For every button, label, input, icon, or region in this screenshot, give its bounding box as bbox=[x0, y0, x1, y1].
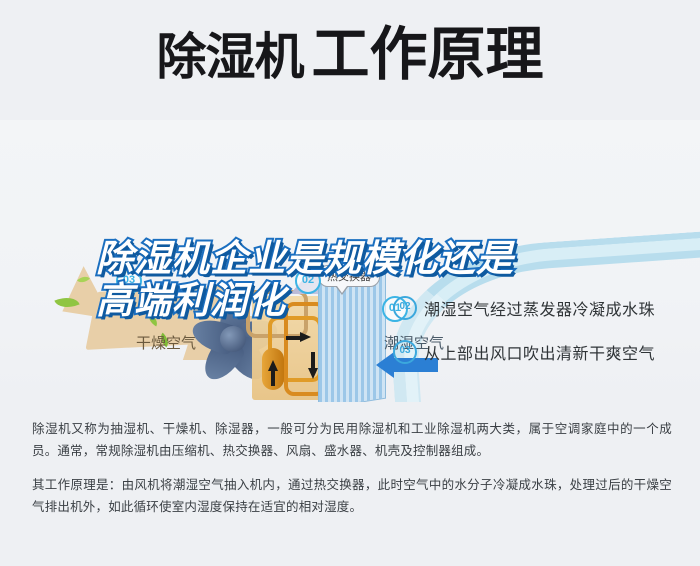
diagram-legend: 02 潮湿空气经过蒸发器冷凝成水珠 03 从上部出风口吹出清新干爽空气 bbox=[393, 296, 655, 384]
article-body: 除湿机又称为抽湿机、干燥机、除湿器，一般可分为民用除湿机和工业除湿机两大类，属于… bbox=[32, 418, 672, 530]
fan-hub bbox=[220, 326, 246, 352]
legend-text-03: 从上部出风口吹出清新干爽空气 bbox=[424, 340, 655, 364]
legend-text-02: 潮湿空气经过蒸发器冷凝成水珠 bbox=[424, 296, 655, 320]
body-paragraph-2: 其工作原理是：由风机将潮湿空气抽入机内，通过热交换器，此时空气中的水分子冷凝成水… bbox=[32, 474, 672, 518]
legend-item: 03 从上部出风口吹出清新干爽空气 bbox=[393, 340, 655, 364]
flow-arrow-down-stem bbox=[311, 352, 315, 368]
legend-badge-02: 02 bbox=[393, 296, 417, 320]
diagram-badge-03: 03 bbox=[116, 268, 142, 294]
evaporator-fins bbox=[318, 273, 386, 402]
page-title-part-two: 工作原理 bbox=[311, 22, 543, 87]
heat-exchanger-callout: 热交换器 bbox=[318, 265, 380, 287]
page-title-part-one: 除湿机 bbox=[156, 29, 303, 85]
heat-exchanger-callout-label: 热交换器 bbox=[327, 271, 371, 283]
legend-badge-03: 03 bbox=[393, 340, 417, 364]
dry-air-label: 干燥空气 bbox=[136, 332, 196, 353]
diagram-badge-02: 02 bbox=[295, 268, 321, 294]
flow-arrow-down-icon bbox=[308, 368, 318, 379]
flow-arrow-right-icon bbox=[300, 332, 311, 342]
flow-arrow-right-stem bbox=[286, 336, 301, 340]
page-title: 除湿机工作原理 bbox=[0, 26, 700, 84]
infographic-page: 除湿机工作原理 bbox=[0, 0, 700, 566]
intake-arrow-head bbox=[376, 352, 394, 378]
flow-arrow-up-stem bbox=[271, 370, 275, 386]
legend-item: 02 潮湿空气经过蒸发器冷凝成水珠 bbox=[393, 296, 655, 320]
body-paragraph-1: 除湿机又称为抽湿机、干燥机、除湿器，一般可分为民用除湿机和工业除湿机两大类，属于… bbox=[32, 418, 672, 462]
